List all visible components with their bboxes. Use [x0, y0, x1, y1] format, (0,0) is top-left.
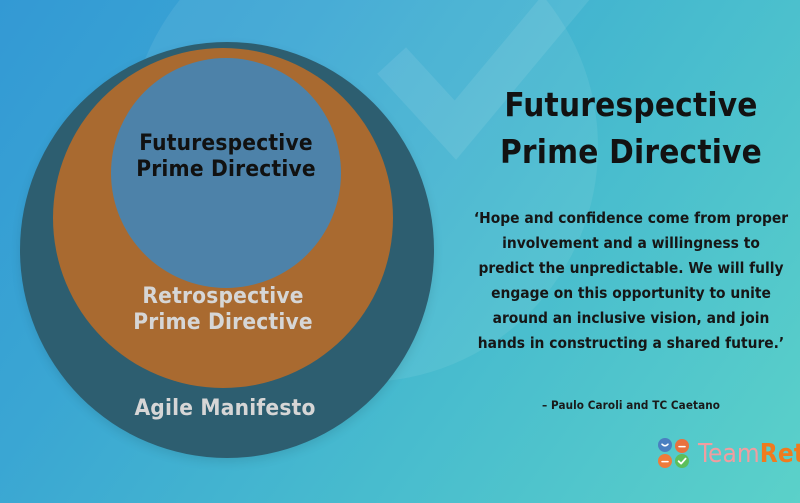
panel-quote: ‘Hope and confidence come from proper in… — [472, 206, 790, 356]
panel-title: Futurespective Prime Directive — [462, 82, 800, 176]
teamretro-logo-text: TeamRetro — [698, 441, 800, 467]
teamretro-logo[interactable]: TeamRetro — [658, 438, 800, 469]
ring-label-retrospective-prime-directive: Retrospective Prime Directive — [78, 283, 368, 335]
logo-dot-green-check-icon — [675, 454, 689, 468]
logo-dot-orange-frown-icon — [658, 454, 672, 468]
logo-text-team: Team — [698, 439, 760, 469]
teamretro-logo-mark-icon — [658, 438, 691, 469]
concentric-circles-diagram: Futurespective Prime Directive Retrospec… — [0, 0, 460, 503]
logo-dot-orange-face-icon — [675, 439, 689, 453]
infographic-canvas: Futurespective Prime Directive Retrospec… — [0, 0, 800, 503]
ring-label-futurespective-prime-directive: Futurespective Prime Directive — [101, 130, 351, 182]
logo-dot-blue-face-icon — [658, 438, 672, 452]
ring-label-agile-manifesto: Agile Manifesto — [60, 395, 390, 421]
panel-attribution: – Paulo Caroli and TC Caetano — [462, 398, 800, 412]
logo-text-retro: Retro — [760, 439, 800, 469]
content-panel: Futurespective Prime Directive ‘Hope and… — [462, 0, 800, 503]
